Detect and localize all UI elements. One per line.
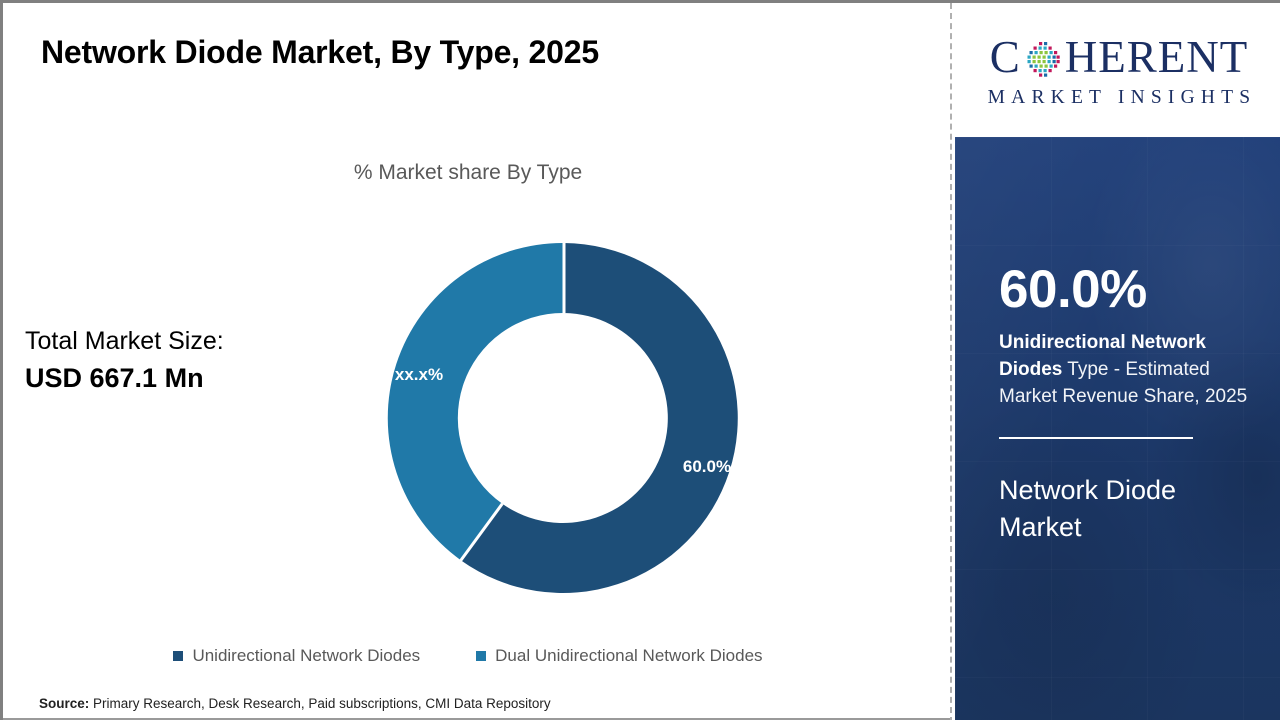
legend-item-unidirectional[interactable]: Unidirectional Network Diodes <box>173 646 420 666</box>
highlight-description: Unidirectional Network Diodes Type - Est… <box>999 330 1254 411</box>
source-bar: Source: Primary Research, Desk Research,… <box>3 693 950 720</box>
panel-divider-rule <box>999 437 1193 439</box>
logo-wordmark-rest: HERENT <box>1065 35 1248 80</box>
donut-chart-svg: 60.0% xx.x% <box>379 233 749 603</box>
chart-legend: Unidirectional Network Diodes Dual Unidi… <box>3 646 933 666</box>
side-panel: C <box>955 3 1280 720</box>
source-value: Primary Research, Desk Research, Paid su… <box>89 696 550 711</box>
legend-item-dual-unidirectional[interactable]: Dual Unidirectional Network Diodes <box>476 646 762 666</box>
donut-chart: 60.0% xx.x% <box>379 233 749 603</box>
side-panel-body: 60.0% Unidirectional Network Diodes Type… <box>955 137 1280 720</box>
side-panel-content: 60.0% Unidirectional Network Diodes Type… <box>955 263 1280 546</box>
total-market-size-label: Total Market Size: <box>25 325 224 359</box>
total-market-size-value: USD 667.1 Mn <box>25 361 224 396</box>
market-name: Network Diode Market <box>999 472 1239 547</box>
donut-slice-dual-unidirectional[interactable] <box>388 243 564 560</box>
legend-label: Unidirectional Network Diodes <box>192 646 420 666</box>
logo-letter-c: C <box>990 35 1021 80</box>
slice-label-unidirectional: 60.0% <box>683 457 731 476</box>
highlight-stat: 60.0% <box>999 263 1259 316</box>
logo-wordmark-row: C <box>990 32 1249 84</box>
total-market-size-block: Total Market Size: USD 667.1 Mn <box>25 325 224 396</box>
slice-label-dual-unidirectional: xx.x% <box>395 365 443 384</box>
logo-subtitle: MARKET INSIGHTS <box>982 87 1257 109</box>
legend-swatch-icon <box>173 651 183 661</box>
panel-divider <box>950 3 952 720</box>
chart-main-area: Network Diode Market, By Type, 2025 % Ma… <box>3 3 950 720</box>
page-title: Network Diode Market, By Type, 2025 <box>41 34 599 71</box>
brand-logo[interactable]: C <box>955 3 1280 137</box>
source-prefix: Source: <box>39 696 89 711</box>
legend-swatch-icon <box>476 651 486 661</box>
legend-label: Dual Unidirectional Network Diodes <box>495 646 762 666</box>
chart-subtitle: % Market share By Type <box>3 161 933 185</box>
source-line: Source: Primary Research, Desk Research,… <box>39 696 551 711</box>
globe-dots-icon <box>1022 39 1064 81</box>
infographic-page: Network Diode Market, By Type, 2025 % Ma… <box>0 0 1280 720</box>
